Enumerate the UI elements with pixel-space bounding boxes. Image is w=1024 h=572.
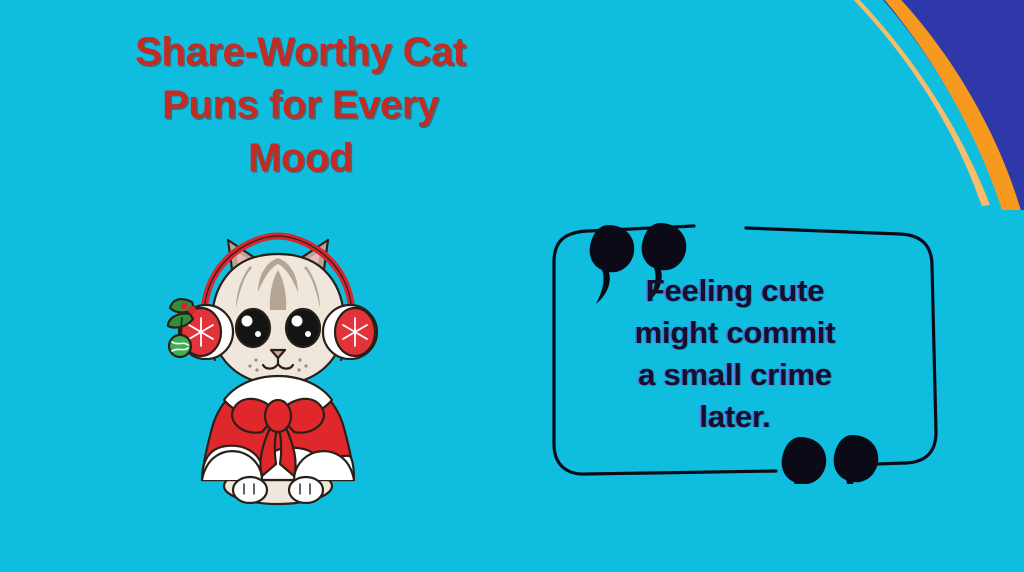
cyan-overlay-curve bbox=[834, 0, 986, 210]
kitten-paw-right bbox=[289, 477, 323, 503]
title-line-2: Puns for Every bbox=[68, 79, 533, 132]
quote-text: Feeling cute might commit a small crime … bbox=[554, 270, 916, 439]
ornament-ball bbox=[169, 335, 191, 357]
kitten-eye-right bbox=[286, 309, 320, 347]
bow-knot bbox=[265, 400, 291, 432]
infographic-canvas: Share-Worthy Cat Puns for Every Mood bbox=[0, 0, 1024, 572]
corner-swoosh-decoration bbox=[834, 0, 1024, 210]
orange-swoosh bbox=[878, 0, 1022, 210]
close-quote-icon bbox=[782, 435, 879, 484]
peach-swoosh bbox=[840, 0, 990, 206]
kitten-paw-left bbox=[233, 477, 267, 503]
title-line-3: Mood bbox=[68, 132, 533, 185]
christmas-kitten-illustration bbox=[158, 218, 398, 513]
quote-card: Feeling cute might commit a small crime … bbox=[508, 222, 956, 484]
kitten-eye-left bbox=[236, 309, 270, 347]
title-line-1: Share-Worthy Cat bbox=[68, 26, 533, 79]
page-title: Share-Worthy Cat Puns for Every Mood bbox=[68, 26, 533, 184]
blue-corner-shape bbox=[874, 0, 1024, 210]
